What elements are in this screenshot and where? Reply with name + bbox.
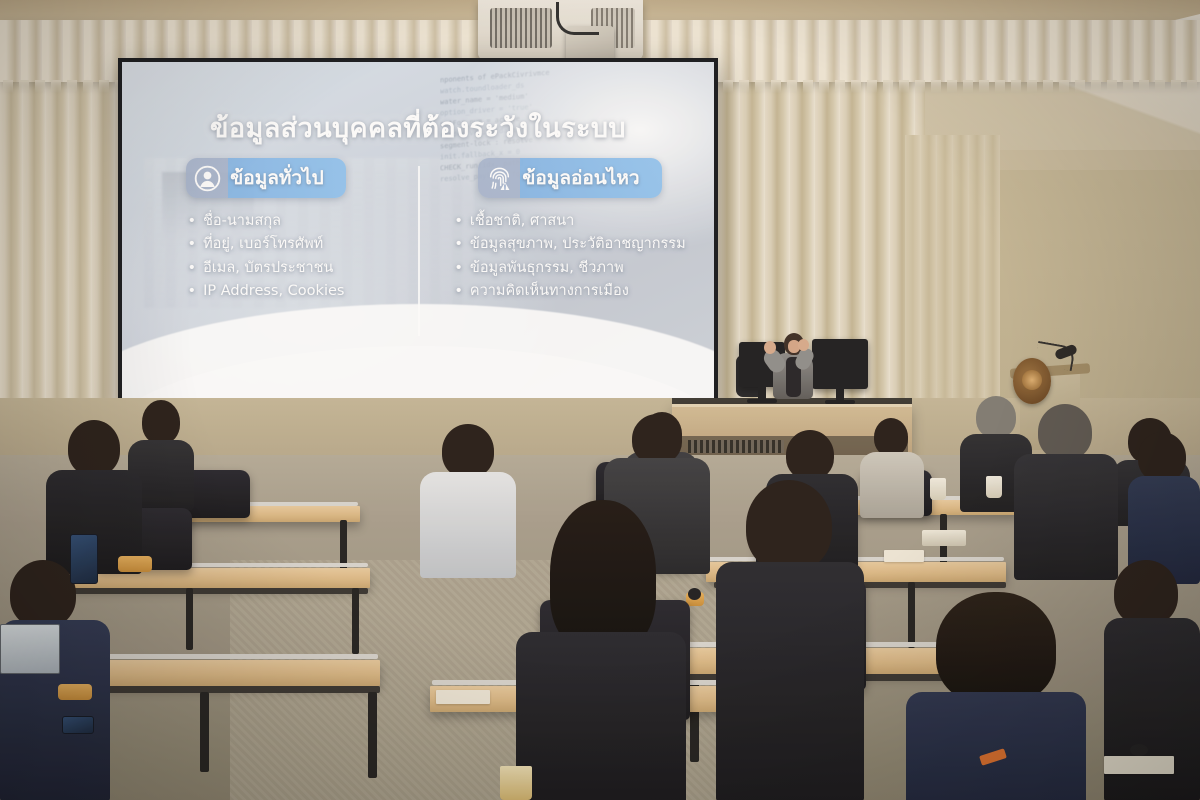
attendee-head <box>976 396 1016 438</box>
attendee-torso <box>420 472 516 578</box>
person-circle-icon <box>194 165 221 192</box>
smartphone-on-desk[interactable] <box>62 716 94 734</box>
attendee-head <box>632 414 682 464</box>
ceiling-projector <box>478 0 643 60</box>
attendee <box>420 424 516 576</box>
attendee <box>860 418 924 516</box>
attendee <box>1014 404 1118 578</box>
snack-item <box>118 556 152 572</box>
attendee-torso <box>716 562 864 800</box>
paper-cup <box>986 476 1002 498</box>
general-data-list: ชื่อ-นามสกุล ที่อยู่, เบอร์โทรศัพท์ อีเม… <box>188 210 345 304</box>
smartphone-on-desk[interactable] <box>70 534 98 584</box>
attendee-head <box>550 500 656 652</box>
projector-vent-left <box>490 8 552 48</box>
sensitive-data-list: เชื้อชาติ, ศาสนา ข้อมูลสุขภาพ, ประวัติอา… <box>454 210 685 304</box>
paper-cup <box>930 478 946 500</box>
fingerprint-warning-icon <box>486 165 513 192</box>
list-item: ชื่อ-นามสกุล <box>188 210 345 233</box>
laptop-screen[interactable] <box>0 624 60 674</box>
drink-cup <box>500 766 532 800</box>
attendee-torso <box>860 452 924 518</box>
attendee-head <box>1038 404 1092 460</box>
desk-object <box>1130 744 1148 756</box>
presenter-left-hand <box>764 341 776 354</box>
desk-leg <box>352 588 359 654</box>
attendee-head <box>1114 560 1178 626</box>
attendee-head <box>142 400 180 444</box>
attendee-head <box>442 424 494 478</box>
desk-object <box>688 588 701 600</box>
list-item: เชื้อชาติ, ศาสนา <box>454 210 685 233</box>
slide-title: ข้อมูลส่วนบุคคลที่ต้องระวังในระบบ <box>122 106 714 149</box>
monitor-right-base <box>825 400 855 404</box>
attendee-head <box>746 480 832 572</box>
list-item: IP Address, Cookies <box>188 280 345 303</box>
paper-sheet <box>436 690 490 704</box>
attendee <box>716 480 864 800</box>
attendee <box>516 500 686 800</box>
presenter <box>771 333 815 403</box>
desk-leg <box>186 588 193 650</box>
attendee-head <box>68 420 120 476</box>
attendee-torso <box>906 692 1086 800</box>
list-item: ข้อมูลพันธุกรรม, ชีวภาพ <box>454 257 685 280</box>
projector-cable <box>556 2 599 35</box>
attendee-head <box>1138 432 1186 482</box>
slide-surface: nponents of ePackCivrivmce watch.toundlo… <box>122 62 714 406</box>
badge-general-data: ข้อมูลทั่วไป <box>186 158 345 198</box>
attendee-head <box>936 592 1056 704</box>
attendee-head <box>874 418 908 456</box>
attendee-head <box>786 430 834 480</box>
paper-sheet <box>1104 756 1174 774</box>
list-item: ที่อยู่, เบอร์โทรศัพท์ <box>188 233 345 256</box>
paper-sheet <box>884 550 924 562</box>
presenter-right-hand <box>798 339 809 351</box>
monitor-right <box>812 339 868 389</box>
monitor-left-stand <box>758 386 766 400</box>
attendee-foreground <box>906 592 1086 800</box>
list-item: ความคิดเห็นทางการเมือง <box>454 280 685 303</box>
lunch-box <box>922 530 966 546</box>
lecture-hall-photo: nponents of ePackCivrivmce watch.toundlo… <box>0 0 1200 800</box>
attendee-torso <box>516 632 686 800</box>
badge-sensitive-data: ข้อมูลอ่อนไหว <box>478 158 661 198</box>
desk-leg <box>368 692 377 778</box>
list-item: ข้อมูลสุขภาพ, ประวัติอาชญากรรม <box>454 233 685 256</box>
attendee <box>0 560 110 800</box>
list-item: อีเมล, บัตรประชาชน <box>188 257 345 280</box>
attendee-head <box>10 560 76 628</box>
projection-screen: nponents of ePackCivrivmce watch.toundlo… <box>118 58 718 410</box>
badge-general-label: ข้อมูลทั่วไป <box>230 163 323 193</box>
desk-leg <box>200 692 209 772</box>
badge-sensitive-label: ข้อมูลอ่อนไหว <box>522 163 639 193</box>
snack-item <box>58 684 92 700</box>
attendee-torso <box>1014 454 1118 580</box>
